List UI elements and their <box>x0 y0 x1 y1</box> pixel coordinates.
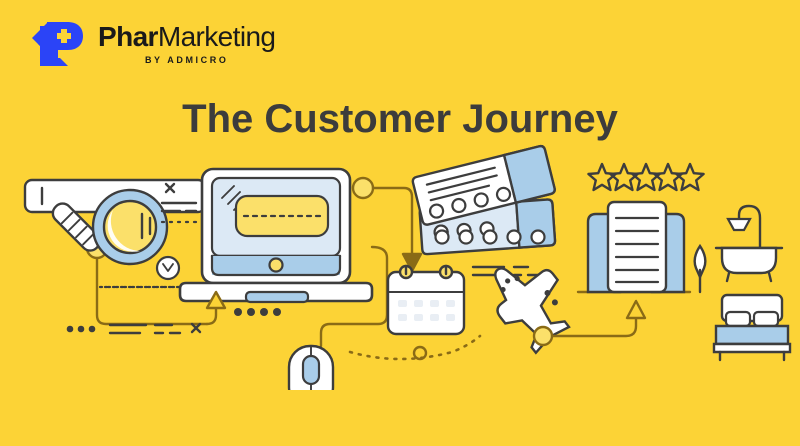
computer-mouse[interactable] <box>289 346 333 390</box>
five-star-rating[interactable] <box>588 164 703 190</box>
double-bed[interactable] <box>714 295 790 360</box>
laptop[interactable] <box>180 169 372 302</box>
pharmarketing-p-logo-icon <box>28 16 86 72</box>
brand-name-light: Marketing <box>158 23 276 51</box>
brand-wordmark: Phar Marketing BY ADMICRO <box>98 23 275 65</box>
brand-name-bold: Phar <box>98 23 158 51</box>
decor-dots-under-laptop <box>234 308 281 316</box>
tree <box>695 246 706 292</box>
connector-to-document <box>534 292 690 345</box>
brand-tagline: BY ADMICRO <box>145 56 229 65</box>
bathtub-with-shower[interactable] <box>716 206 782 281</box>
page-title: The Customer Journey <box>0 97 800 142</box>
customer-journey-banner: Phar Marketing BY ADMICRO The Customer J… <box>0 0 800 446</box>
customer-journey-illustration: .ol { stroke:#3d3d3d; stroke-width:2.4; … <box>0 140 800 390</box>
open-document[interactable] <box>588 202 684 292</box>
calendar[interactable] <box>388 266 464 334</box>
brand-logo[interactable]: Phar Marketing BY ADMICRO <box>28 16 275 72</box>
boarding-pass-tickets[interactable] <box>412 145 556 254</box>
